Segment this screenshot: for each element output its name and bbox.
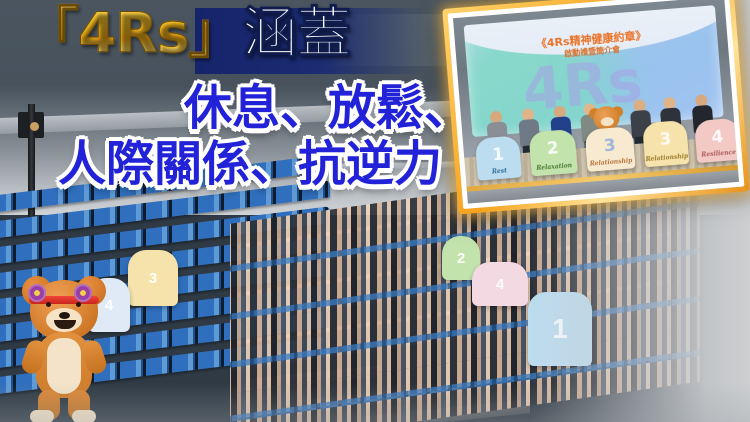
standee-number: 4 bbox=[695, 126, 739, 149]
standee-label: Relationship bbox=[645, 153, 689, 164]
standee-number: 2 bbox=[457, 250, 465, 267]
wall-panel bbox=[330, 14, 450, 66]
inset-standee-2: 2 Relaxation bbox=[528, 129, 577, 177]
inset-standee-4: 3 Relationship bbox=[642, 120, 689, 167]
inset-standee-1: 1 Rest bbox=[475, 135, 522, 180]
inset-photo: 4Rs 《4Rs精神健康約章》 啟動禮暨簡介會 bbox=[448, 0, 745, 209]
flower-icon bbox=[28, 284, 46, 302]
standee-number: 1 bbox=[475, 143, 520, 166]
standee-r3: 3 bbox=[128, 250, 178, 306]
speaker-indicator bbox=[30, 122, 39, 131]
inset-standee-5: 4 Resilience bbox=[694, 118, 739, 163]
standee-r4-b: 4 bbox=[472, 262, 528, 306]
standee-number: 2 bbox=[529, 137, 576, 161]
inset-frame: 4Rs 《4Rs精神健康約章》 啟動禮暨簡介會 bbox=[448, 0, 745, 209]
standee-label: Rest bbox=[477, 166, 521, 177]
standee-label: Relaxation bbox=[531, 162, 577, 173]
standee-label: Relationship bbox=[587, 157, 635, 168]
promo-banner: 3 4 2 4 1 bbox=[0, 0, 750, 422]
flower-icon bbox=[74, 284, 92, 302]
standee-number: 3 bbox=[585, 134, 634, 158]
standee-number: 4 bbox=[496, 276, 504, 293]
inset-standee-3: 3 Relationship bbox=[584, 126, 635, 172]
bottom-fade-overlay bbox=[0, 382, 750, 422]
standee-label: Resilience bbox=[697, 149, 740, 160]
standee-number: 3 bbox=[643, 128, 688, 151]
standee-number: 3 bbox=[149, 270, 157, 287]
